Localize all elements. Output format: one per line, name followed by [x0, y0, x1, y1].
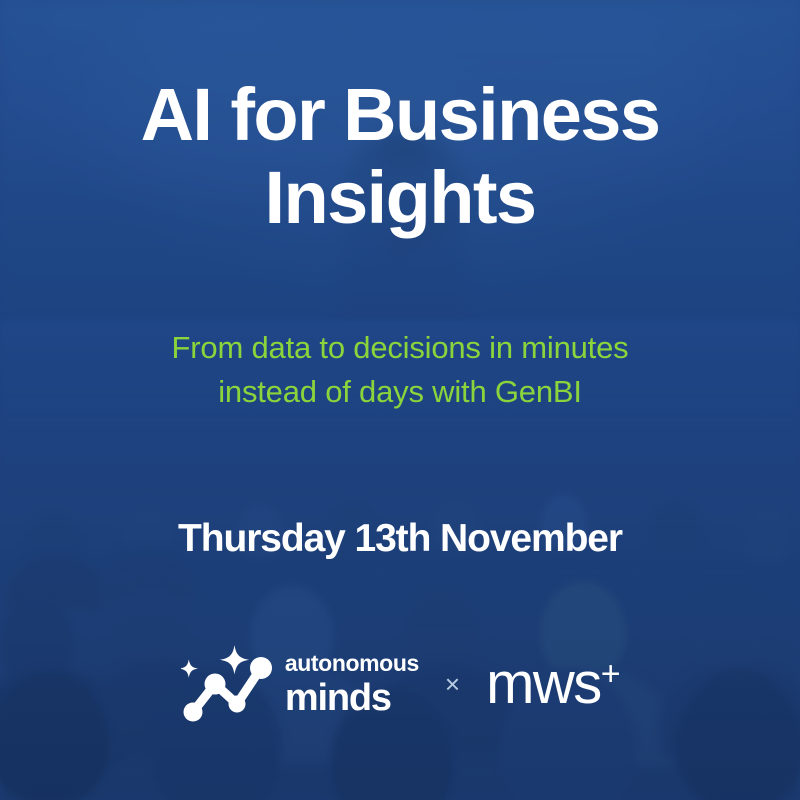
headline-line-1: AI for Business — [141, 73, 660, 156]
autonomous-minds-logo: autonomous minds — [181, 644, 419, 724]
poster-headline: AI for Business Insights — [0, 74, 800, 240]
subtitle-line-2: instead of days with GenBI — [70, 370, 730, 414]
mws-wordmark: mws — [486, 655, 601, 713]
event-date: Thursday 13th November — [0, 517, 800, 561]
logo-lockup: autonomous minds × mws + — [0, 644, 800, 724]
mws-plus-glyph: + — [601, 657, 619, 691]
headline-line-2: Insights — [40, 157, 760, 240]
wordmark-minds: minds — [285, 679, 391, 717]
subtitle-line-1: From data to decisions in minutes — [172, 330, 629, 365]
line-chart-sparkle-icon — [181, 644, 273, 724]
wordmark-autonomous: autonomous — [285, 652, 419, 675]
lockup-separator-icon: × — [445, 669, 460, 700]
mws-logo: mws + — [486, 655, 619, 713]
event-promo-poster: AI for Business Insights From data to de… — [0, 0, 800, 800]
poster-subtitle: From data to decisions in minutes instea… — [0, 326, 800, 414]
autonomous-minds-wordmark: autonomous minds — [285, 652, 419, 717]
